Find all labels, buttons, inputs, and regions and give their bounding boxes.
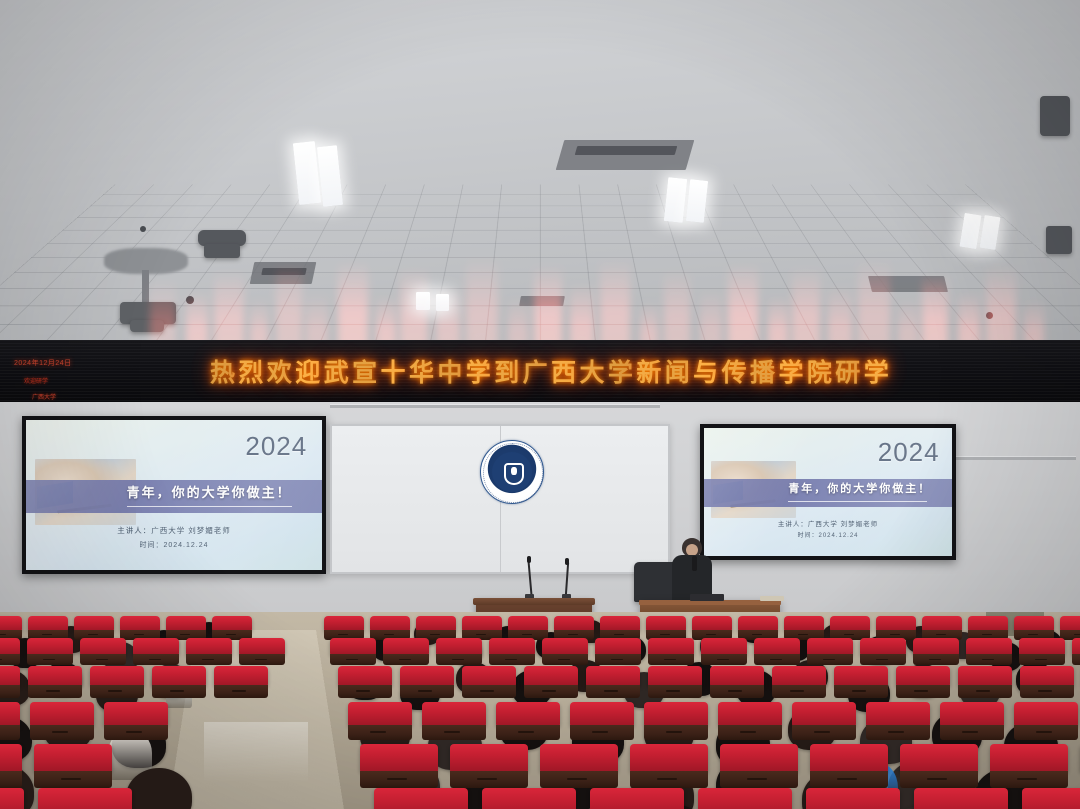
seat-desk-panel	[860, 654, 906, 665]
seat-desk-panel	[450, 771, 528, 788]
seat-desk-panel	[1014, 725, 1078, 740]
wall-rail	[330, 404, 660, 408]
seat-back	[600, 616, 640, 631]
led-char: 迎	[295, 353, 321, 389]
seat-back	[462, 616, 502, 631]
seat-back	[370, 616, 410, 631]
seat-back	[38, 788, 132, 809]
seat-desk-panel	[648, 685, 702, 697]
auditorium-seat[interactable]	[830, 616, 870, 631]
university-emblem	[480, 440, 544, 504]
led-char: 华	[409, 353, 435, 389]
seat-back	[570, 702, 634, 726]
seat-back	[876, 616, 916, 631]
seat-back	[0, 788, 24, 809]
seat-back	[422, 702, 486, 726]
seat-desk-panel	[496, 725, 560, 740]
seat-back	[152, 666, 206, 686]
seat-back	[212, 616, 252, 631]
ceiling-vent	[261, 268, 306, 275]
seat-desk-panel	[338, 685, 392, 697]
led-char: 学	[778, 353, 804, 389]
seat-desk-panel	[542, 654, 588, 665]
led-aux-text-2: 欢迎研学	[24, 376, 48, 385]
seat-back	[104, 702, 168, 726]
seat-back	[718, 702, 782, 726]
seat-back	[80, 638, 126, 655]
whiteboard[interactable]	[330, 424, 670, 574]
seat-desk-panel	[648, 654, 694, 665]
seat-back	[482, 788, 576, 809]
slide-presenter: 主讲人：广西大学 刘梦媚老师	[704, 518, 952, 528]
seat-back	[400, 666, 454, 686]
auditorium-seat[interactable]	[524, 666, 578, 686]
seat-desk-panel	[718, 725, 782, 740]
seat-desk-panel	[1072, 654, 1080, 665]
seat-desk-panel	[422, 725, 486, 740]
seat-back	[1022, 788, 1080, 809]
auditorium-seat[interactable]	[462, 616, 502, 631]
seat-back	[28, 666, 82, 686]
auditorium-seat[interactable]	[968, 616, 1008, 631]
seat-desk-panel	[710, 685, 764, 697]
seat-desk-panel	[239, 654, 285, 665]
auditorium-seat[interactable]	[900, 744, 978, 772]
wall-rail	[948, 456, 1076, 460]
ceiling-light-panel	[436, 294, 449, 311]
seat-desk-panel	[810, 771, 888, 788]
ceiling-speaker	[1040, 96, 1070, 136]
seat-back	[542, 638, 588, 655]
seat-back	[30, 702, 94, 726]
auditorium-seat[interactable]	[0, 638, 20, 655]
seat-desk-panel	[644, 725, 708, 740]
auditorium-seat[interactable]	[1020, 666, 1074, 686]
slide-date: 时间：2024.12.24	[704, 530, 952, 539]
auditorium-seat[interactable]	[834, 666, 888, 686]
seat-desk-panel	[570, 725, 634, 740]
auditorium-seat[interactable]	[720, 744, 798, 772]
auditorium-seat[interactable]	[1022, 788, 1080, 809]
seat-desk-panel	[896, 685, 950, 697]
seat-back	[834, 666, 888, 686]
auditorium-seat[interactable]	[34, 744, 112, 772]
seat-back	[338, 666, 392, 686]
led-aux-text-3: 广西大学	[32, 392, 56, 401]
seat-desk-panel	[0, 771, 22, 788]
auditorium-seat[interactable]	[542, 638, 588, 655]
ceiling-grid-line	[540, 184, 541, 348]
desk-item-papers	[760, 596, 784, 601]
auditorium-seat[interactable]	[738, 616, 778, 631]
led-char: 宣	[352, 353, 378, 389]
seat-back	[968, 616, 1008, 631]
auditorium-seat[interactable]	[701, 638, 747, 655]
lecture-hall-photo: 2024年12月24日 欢迎研学 广西大学 热烈欢迎武宣十华中学到广西大学新闻与…	[0, 0, 1080, 809]
auditorium-seat[interactable]	[28, 666, 82, 686]
aisle-floor-shine	[204, 722, 308, 782]
seat-desk-panel	[940, 725, 1004, 740]
led-char: 十	[381, 353, 407, 389]
auditorium-seat[interactable]	[1014, 616, 1054, 631]
ceiling-sensor	[140, 226, 146, 232]
led-banner: 2024年12月24日 欢迎研学 广西大学 热烈欢迎武宣十华中学到广西大学新闻与…	[0, 340, 1080, 405]
auditorium-seat[interactable]	[698, 788, 792, 809]
seat-back	[710, 666, 764, 686]
led-char: 西	[551, 353, 577, 389]
seat-back	[648, 666, 702, 686]
seat-back	[1072, 638, 1080, 655]
seat-desk-panel	[900, 771, 978, 788]
seat-desk-panel	[1020, 685, 1074, 697]
seat-back	[590, 788, 684, 809]
seat-desk-panel	[348, 725, 412, 740]
auditorium-seat[interactable]	[0, 744, 22, 772]
seat-back	[784, 616, 824, 631]
auditorium-seat[interactable]	[646, 616, 686, 631]
auditorium-seat[interactable]	[990, 744, 1068, 772]
seat-desk-panel	[436, 654, 482, 665]
seat-back	[0, 666, 20, 686]
seat-back	[383, 638, 429, 655]
auditorium-seat[interactable]	[648, 638, 694, 655]
seat-back	[644, 702, 708, 726]
seat-back	[1014, 616, 1054, 631]
ceiling-speaker	[204, 244, 240, 258]
slide-year: 2024	[245, 431, 307, 462]
seat-desk-panel	[720, 771, 798, 788]
auditorium-seat[interactable]	[792, 702, 856, 726]
auditorium-seat[interactable]	[0, 666, 20, 686]
auditorium-seat[interactable]	[324, 616, 364, 631]
seat-back	[966, 638, 1012, 655]
auditorium-seat[interactable]	[940, 702, 1004, 726]
seat-back	[348, 702, 412, 726]
auditorium-seat[interactable]	[80, 638, 126, 655]
led-char: 武	[324, 353, 350, 389]
seat-back	[810, 744, 888, 772]
auditorium-seat[interactable]	[360, 744, 438, 772]
seat-desk-panel	[630, 771, 708, 788]
auditorium-seat[interactable]	[590, 788, 684, 809]
seat-back	[830, 616, 870, 631]
seat-desk-panel	[400, 685, 454, 697]
auditorium-seat[interactable]	[913, 638, 959, 655]
seat-back	[450, 744, 528, 772]
ceiling-vent	[556, 140, 695, 170]
auditorium-seat[interactable]	[38, 788, 132, 809]
seat-back	[807, 638, 853, 655]
auditorium-seat[interactable]	[595, 638, 641, 655]
seat-back	[416, 616, 456, 631]
auditorium-seat[interactable]	[489, 638, 535, 655]
seat-back	[940, 702, 1004, 726]
auditorium-seat[interactable]	[508, 616, 548, 631]
seat-back	[701, 638, 747, 655]
seat-back	[0, 702, 20, 726]
projection-screen-right[interactable]: 2024 青年，你的大学你做主！ 主讲人：广西大学 刘梦媚老师 时间：2024.…	[700, 424, 956, 560]
seat-back	[374, 788, 468, 809]
seat-back	[1014, 702, 1078, 726]
led-char: 学	[608, 353, 634, 389]
seat-desk-panel	[595, 654, 641, 665]
auditorium-seat[interactable]	[1014, 702, 1078, 726]
microphone-head	[565, 558, 569, 565]
seat-back	[554, 616, 594, 631]
seat-back	[74, 616, 114, 631]
slide-title-underline	[127, 506, 293, 507]
seat-desk-panel	[586, 685, 640, 697]
seat-desk-panel	[792, 725, 856, 740]
auditorium-seat[interactable]	[1072, 638, 1080, 655]
ceiling-vent	[519, 296, 565, 306]
auditorium-seat[interactable]	[0, 702, 20, 726]
auditorium-seat[interactable]	[772, 666, 826, 686]
desk-item-laptop	[690, 594, 724, 601]
auditorium-seat[interactable]	[784, 616, 824, 631]
seat-desk-panel	[133, 654, 179, 665]
seat-back	[133, 638, 179, 655]
auditorium-seat[interactable]	[74, 616, 114, 631]
seat-back	[914, 788, 1008, 809]
auditorium-seat[interactable]	[90, 666, 144, 686]
auditorium-seat[interactable]	[450, 744, 528, 772]
seat-back	[792, 702, 856, 726]
seat-desk-panel	[540, 771, 618, 788]
ceiling-vent	[575, 146, 678, 155]
seat-back	[436, 638, 482, 655]
auditorium-seat[interactable]	[416, 616, 456, 631]
auditorium-seat[interactable]	[330, 638, 376, 655]
seat-desk-panel	[701, 654, 747, 665]
auditorium-seat[interactable]	[896, 666, 950, 686]
seat-desk-panel	[772, 685, 826, 697]
seat-back	[324, 616, 364, 631]
auditorium-seat[interactable]	[186, 638, 232, 655]
seat-back	[648, 638, 694, 655]
auditorium-seat[interactable]	[462, 666, 516, 686]
seat-desk-panel	[34, 771, 112, 788]
auditorium-seat[interactable]	[27, 638, 73, 655]
seat-desk-panel	[186, 654, 232, 665]
ceiling	[0, 0, 1080, 348]
led-char: 研	[835, 353, 861, 389]
led-aux-text-1: 2024年12月24日	[14, 358, 72, 368]
auditorium-seat[interactable]	[104, 702, 168, 726]
slide-right: 2024 青年，你的大学你做主！ 主讲人：广西大学 刘梦媚老师 时间：2024.…	[704, 428, 952, 556]
auditorium-seat[interactable]	[496, 702, 560, 726]
auditorium-seat[interactable]	[436, 638, 482, 655]
slide-presenter: 主讲人：广西大学 刘梦媚老师	[26, 525, 322, 536]
auditorium-seat[interactable]	[922, 616, 962, 631]
auditorium-seat[interactable]	[383, 638, 429, 655]
led-char: 院	[807, 353, 833, 389]
seat-back	[489, 638, 535, 655]
seat-back	[720, 744, 798, 772]
auditorium-seat[interactable]	[648, 666, 702, 686]
seat-back	[524, 666, 578, 686]
projector-lens-housing	[130, 320, 164, 332]
auditorium-seat[interactable]	[540, 744, 618, 772]
seat-back	[586, 666, 640, 686]
seat-desk-panel	[152, 685, 206, 697]
seat-back	[540, 744, 618, 772]
seat-desk-panel	[30, 725, 94, 740]
slide-left: 2024 青年，你的大学你做主！ 主讲人：广西大学 刘梦媚老师 时间：2024.…	[26, 420, 322, 570]
seat-desk-panel	[80, 654, 126, 665]
auditorium-seat[interactable]	[710, 666, 764, 686]
auditorium-seat[interactable]	[374, 788, 468, 809]
slide-title: 青年，你的大学你做主！	[127, 482, 292, 501]
auditorium-seat[interactable]	[718, 702, 782, 726]
led-char: 播	[750, 353, 776, 389]
auditorium-seat[interactable]	[370, 616, 410, 631]
auditorium-seat[interactable]	[0, 788, 24, 809]
seat-back	[239, 638, 285, 655]
auditorium-seat[interactable]	[30, 702, 94, 726]
seat-desk-panel	[958, 685, 1012, 697]
seat-back	[630, 744, 708, 772]
audience-area	[0, 612, 1080, 809]
seat-desk-panel	[913, 654, 959, 665]
led-char: 学	[466, 353, 492, 389]
seat-back	[0, 638, 20, 655]
seat-desk-panel	[330, 654, 376, 665]
seat-back	[896, 666, 950, 686]
seat-desk-panel	[27, 654, 73, 665]
auditorium-seat[interactable]	[482, 788, 576, 809]
projection-screen-left[interactable]: 2024 青年，你的大学你做主！ 主讲人：广西大学 刘梦媚老师 时间：2024.…	[22, 416, 326, 574]
auditorium-seat[interactable]	[1019, 638, 1065, 655]
slide-title: 青年，你的大学你做主！	[788, 480, 931, 496]
seat-desk-panel	[489, 654, 535, 665]
seat-back	[913, 638, 959, 655]
seat-back	[754, 638, 800, 655]
auditorium-seat[interactable]	[806, 788, 900, 809]
seat-back	[1020, 666, 1074, 686]
seat-back	[34, 744, 112, 772]
seat-back	[698, 788, 792, 809]
slide-year: 2024	[878, 437, 940, 468]
auditorium-seat[interactable]	[866, 702, 930, 726]
auditorium-seat[interactable]	[1060, 616, 1080, 631]
auditorium-seat[interactable]	[338, 666, 392, 686]
seat-desk-panel	[966, 654, 1012, 665]
auditorium-seat[interactable]	[28, 616, 68, 631]
slide-title-underline	[788, 501, 927, 502]
auditorium-seat[interactable]	[876, 616, 916, 631]
seat-back	[360, 744, 438, 772]
led-char: 中	[437, 353, 463, 389]
auditorium-seat[interactable]	[214, 666, 268, 686]
seat-back	[27, 638, 73, 655]
projector-pole	[142, 270, 149, 304]
auditorium-seat[interactable]	[133, 638, 179, 655]
auditorium-seat[interactable]	[348, 702, 412, 726]
seat-desk-panel	[754, 654, 800, 665]
seat-back	[692, 616, 732, 631]
led-char: 闻	[665, 353, 691, 389]
seat-back	[922, 616, 962, 631]
auditorium-seat[interactable]	[400, 666, 454, 686]
auditorium-seat[interactable]	[914, 788, 1008, 809]
seat-back	[772, 666, 826, 686]
auditorium-seat[interactable]	[600, 616, 640, 631]
led-char: 欢	[267, 353, 293, 389]
auditorium-seat[interactable]	[807, 638, 853, 655]
seat-back	[462, 666, 516, 686]
auditorium-seat[interactable]	[630, 744, 708, 772]
seat-desk-panel	[360, 771, 438, 788]
led-char: 传	[722, 353, 748, 389]
led-char: 新	[636, 353, 662, 389]
seat-desk-panel	[0, 725, 20, 740]
auditorium-seat[interactable]	[554, 616, 594, 631]
seat-back	[330, 638, 376, 655]
auditorium-seat[interactable]	[810, 744, 888, 772]
seat-back	[28, 616, 68, 631]
seat-back	[90, 666, 144, 686]
seat-back	[508, 616, 548, 631]
auditorium-seat[interactable]	[0, 616, 22, 631]
seat-desk-panel	[214, 685, 268, 697]
seat-back	[186, 638, 232, 655]
auditorium-seat[interactable]	[152, 666, 206, 686]
auditorium-seat[interactable]	[966, 638, 1012, 655]
auditorium-seat[interactable]	[422, 702, 486, 726]
seat-back	[860, 638, 906, 655]
seat-back	[990, 744, 1068, 772]
slide-date: 时间：2024.12.24	[26, 540, 322, 550]
seat-desk-panel	[807, 654, 853, 665]
auditorium-seat[interactable]	[692, 616, 732, 631]
auditorium-seat[interactable]	[754, 638, 800, 655]
seat-desk-panel	[462, 685, 516, 697]
seat-back	[0, 616, 22, 631]
auditorium-seat[interactable]	[586, 666, 640, 686]
seat-back	[1060, 616, 1080, 631]
auditorium-seat[interactable]	[239, 638, 285, 655]
seat-back	[900, 744, 978, 772]
seat-desk-panel	[1019, 654, 1065, 665]
ceiling-vent	[868, 276, 948, 292]
auditorium-seat[interactable]	[570, 702, 634, 726]
seat-desk-panel	[383, 654, 429, 665]
seat-desk-panel	[0, 654, 20, 665]
seat-desk-panel	[90, 685, 144, 697]
seat-back	[866, 702, 930, 726]
seat-back	[958, 666, 1012, 686]
seat-desk-panel	[866, 725, 930, 740]
auditorium-seat[interactable]	[120, 616, 160, 631]
led-char: 广	[523, 353, 549, 389]
led-char: 学	[864, 353, 890, 389]
auditorium-seat[interactable]	[212, 616, 252, 631]
seat-back	[120, 616, 160, 631]
led-char: 与	[693, 353, 719, 389]
lectern-top-edge	[473, 598, 596, 605]
seat-desk-panel	[0, 685, 20, 697]
seat-back	[738, 616, 778, 631]
ceiling-sensor	[186, 296, 194, 304]
auditorium-seat[interactable]	[860, 638, 906, 655]
auditorium-seat[interactable]	[166, 616, 206, 631]
ceiling-speaker	[1046, 226, 1072, 254]
auditorium-seat[interactable]	[644, 702, 708, 726]
auditorium-seat[interactable]	[958, 666, 1012, 686]
led-char: 烈	[238, 353, 264, 389]
seat-back	[214, 666, 268, 686]
